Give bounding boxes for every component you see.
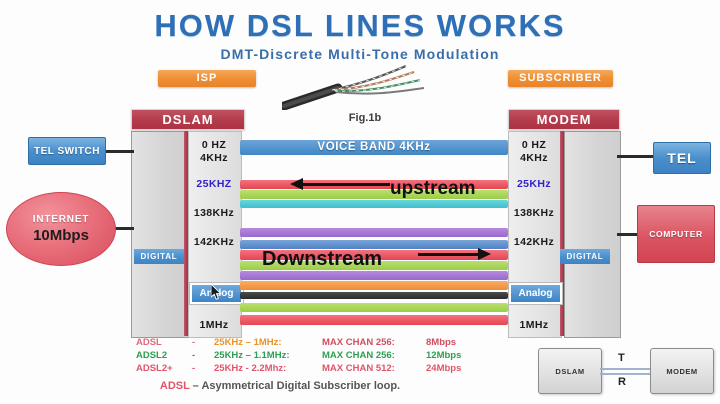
band-voice: VOICE BAND 4KHz (240, 140, 508, 155)
inset-t-label: T (618, 352, 625, 364)
left-freq-142khz: 142KHz (186, 236, 242, 248)
legend-adsl2plus-dash: - (192, 362, 214, 375)
left-digital-badge: DIGITAL (134, 249, 184, 264)
band-down-green2 (240, 303, 508, 312)
inset-r-label: R (618, 376, 626, 388)
band-purple-1 (240, 228, 508, 237)
inset-dslam-box[interactable]: DSLAM (538, 348, 602, 394)
banner-modem: MODEM (508, 109, 620, 130)
node-internet-speed: 10Mbps (33, 227, 89, 244)
right-digital-badge: DIGITAL (560, 249, 610, 264)
inset-t-line (600, 368, 650, 370)
adsl-footnote-rest: – Asymmetrical Digital Subscriber loop. (190, 380, 401, 392)
legend-adsl2-chan: MAX CHAN 256: (322, 349, 426, 362)
left-freq-0hz: 0 HZ (188, 139, 240, 151)
inset-dslam-modem-diagram: DSLAM MODEM T R (536, 344, 716, 396)
legend-adsl2-dash: - (192, 349, 214, 362)
legend-adsl2plus-chan: MAX CHAN 512: (322, 362, 426, 375)
inset-dslam-label: DSLAM (555, 367, 584, 376)
dslam-outer-column (131, 131, 190, 338)
right-freq-4khz: 4KHz (508, 152, 560, 164)
wire-computer (617, 233, 637, 236)
legend-adsl-name: ADSL (136, 336, 192, 349)
adsl-footnote: ADSL – Asymmetrical Digital Subscriber l… (0, 380, 560, 392)
page-title: HOW DSL LINES WORKS (0, 8, 720, 44)
diagram-canvas: HOW DSL LINES WORKS DMT-Discrete Multi-T… (0, 0, 720, 404)
band-down-purple (240, 271, 508, 280)
node-tel-label: TEL (667, 150, 696, 166)
figure-caption: Fig.1b (330, 112, 400, 124)
legend-row-adsl: ADSL - 25KHz – 1MHz: MAX CHAN 256: 8Mbps (136, 336, 536, 349)
twisted-pair-cable-figure (282, 62, 432, 110)
legend-adsl2plus-range: 25KHz - 2.2Mhz: (214, 362, 322, 375)
legend-adsl2plus-rate: 24Mbps (426, 362, 536, 375)
left-freq-1mhz: 1MHz (188, 319, 240, 331)
upstream-arrow-head (290, 178, 303, 190)
right-freq-1mhz: 1MHz (508, 319, 560, 331)
downstream-arrow-line (418, 253, 480, 256)
right-freq-142khz: 142KHz (506, 236, 562, 248)
spectrum-band-stack: VOICE BAND 4KHz upstream Downstream (240, 140, 508, 336)
band-down-red2 (240, 315, 508, 325)
mouse-cursor-icon (211, 284, 223, 302)
legend-adsl-dash: - (192, 336, 214, 349)
left-freq-25khz: 25KHZ (186, 178, 242, 190)
inset-modem-label: MODEM (666, 367, 697, 376)
left-freq-4khz: 4KHz (188, 152, 240, 164)
adsl-footnote-keyword: ADSL (160, 380, 190, 392)
legend-adsl-range: 25KHz – 1MHz: (214, 336, 322, 349)
page-subtitle: DMT-Discrete Multi-Tone Modulation (0, 46, 720, 62)
inset-modem-box[interactable]: MODEM (650, 348, 714, 394)
inset-r-line (600, 373, 650, 375)
adsl-legend-table: ADSL - 25KHz – 1MHz: MAX CHAN 256: 8Mbps… (136, 336, 536, 375)
node-tel-switch-label: TEL SWITCH (34, 146, 100, 157)
legend-adsl2-name: ADSL2 (136, 349, 192, 362)
legend-row-adsl2: ADSL2 - 25KHz – 1.1MHz: MAX CHAN 256: 12… (136, 349, 536, 362)
node-computer-label: COMPUTER (649, 229, 702, 239)
left-freq-138khz: 138KHz (186, 207, 242, 219)
node-internet-label: INTERNET (33, 214, 89, 225)
banner-isp: ISP (158, 70, 256, 87)
node-computer[interactable]: COMPUTER (637, 205, 715, 263)
legend-adsl-chan: MAX CHAN 256: (322, 336, 426, 349)
legend-adsl2-rate: 12Mbps (426, 349, 536, 362)
band-upstream-cyan (240, 200, 508, 208)
upstream-arrow-line (302, 183, 390, 186)
node-tel[interactable]: TEL (653, 142, 711, 174)
legend-adsl2-range: 25KHz – 1.1MHz: (214, 349, 322, 362)
wire-tel (617, 155, 653, 158)
right-freq-25khz: 25KHz (506, 178, 562, 190)
banner-dslam: DSLAM (131, 109, 245, 130)
wire-tel-switch (104, 150, 134, 153)
legend-row-adsl2plus: ADSL2+ - 25KHz - 2.2Mhz: MAX CHAN 512: 2… (136, 362, 536, 375)
band-down-orange (240, 281, 508, 290)
right-analog-badge: Analog (509, 283, 562, 304)
right-freq-138khz: 138KHz (506, 207, 562, 219)
legend-adsl-rate: 8Mbps (426, 336, 536, 349)
downstream-label: Downstream (262, 248, 382, 271)
modem-outer-column (564, 131, 621, 338)
right-freq-0hz: 0 HZ (508, 139, 560, 151)
legend-adsl2plus-name: ADSL2+ (136, 362, 192, 375)
node-internet[interactable]: INTERNET 10Mbps (6, 192, 116, 266)
upstream-label: upstream (390, 178, 476, 200)
banner-subscriber: SUBSCRIBER (508, 70, 613, 87)
band-down-dark (240, 292, 508, 299)
downstream-arrow-head (478, 248, 491, 260)
node-tel-switch[interactable]: TEL SWITCH (28, 137, 106, 165)
